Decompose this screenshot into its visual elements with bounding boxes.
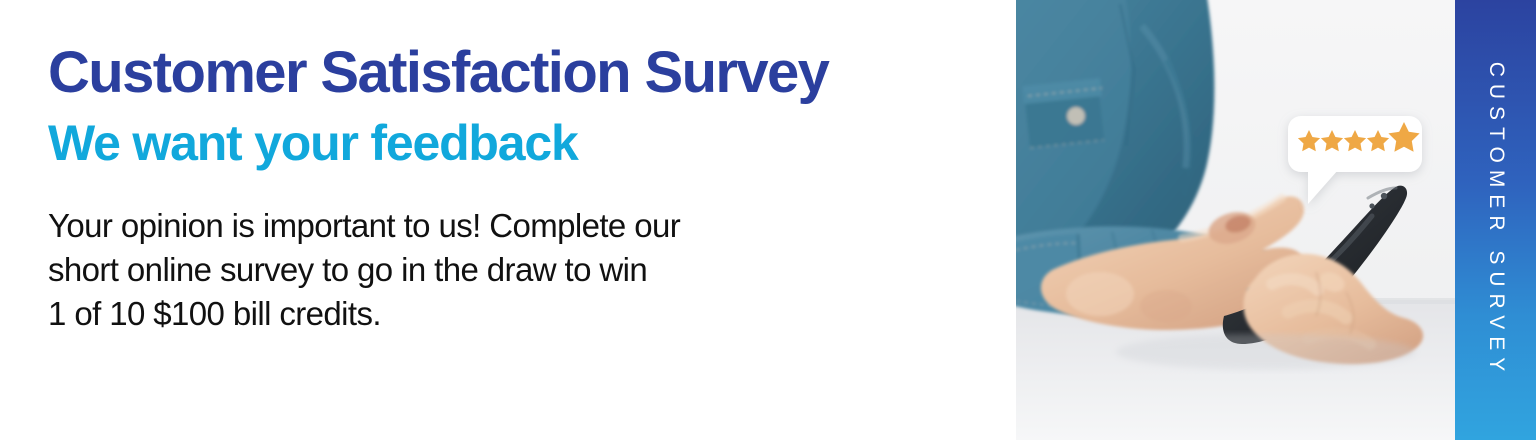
side-bar-label: CUSTOMER SURVEY <box>1484 62 1508 379</box>
text-panel: Customer Satisfaction Survey We want you… <box>0 0 1016 440</box>
body-line-2: short online survey to go in the draw to… <box>48 248 928 292</box>
side-bar: CUSTOMER SURVEY <box>1455 0 1536 440</box>
page-subtitle: We want your feedback <box>48 117 1016 170</box>
body-line-3: 1 of 10 $100 bill credits. <box>48 292 928 336</box>
hero-photo <box>1016 0 1455 440</box>
photo-illustration <box>1016 0 1455 440</box>
customer-survey-banner: Customer Satisfaction Survey We want you… <box>0 0 1536 440</box>
page-title: Customer Satisfaction Survey <box>48 42 1016 103</box>
body-copy: Your opinion is important to us! Complet… <box>48 204 928 336</box>
body-line-1: Your opinion is important to us! Complet… <box>48 204 928 248</box>
